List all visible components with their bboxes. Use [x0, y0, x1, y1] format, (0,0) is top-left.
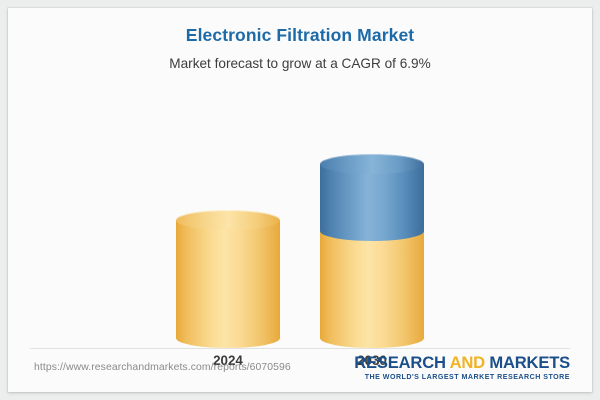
cylinder-2030-growth	[320, 154, 424, 241]
cylinder-2024-base	[176, 210, 280, 348]
logo-wordmark: RESEARCH AND MARKETS	[354, 354, 570, 371]
chart-card: Electronic Filtration Market Market fore…	[8, 8, 592, 392]
cylinder-body	[320, 231, 424, 338]
cylinder-bottom-cap	[320, 221, 424, 241]
logo-tagline: THE WORLD'S LARGEST MARKET RESEARCH STOR…	[354, 373, 570, 381]
footer-divider	[30, 348, 570, 349]
source-url-link[interactable]: https://www.researchandmarkets.com/repor…	[34, 362, 291, 373]
cylinder-top-cap	[320, 154, 424, 174]
footer: https://www.researchandmarkets.com/repor…	[8, 348, 592, 392]
logo-word-research: RESEARCH	[354, 353, 449, 372]
research-and-markets-logo[interactable]: RESEARCH AND MARKETS THE WORLD'S LARGEST…	[354, 354, 570, 381]
cylinder-body	[176, 220, 280, 338]
bar-group-2024[interactable]: USD 4.2 Billion 2024	[176, 38, 280, 348]
cylinder-top-cap	[176, 210, 280, 230]
logo-word-markets: MARKETS	[485, 353, 570, 372]
logo-word-and: AND	[450, 353, 485, 372]
plot-area: USD 4.2 Billion 2024 USD 6.3 Billion	[8, 8, 592, 348]
bar-group-2030[interactable]: USD 6.3 Billion 2030	[320, 38, 424, 348]
